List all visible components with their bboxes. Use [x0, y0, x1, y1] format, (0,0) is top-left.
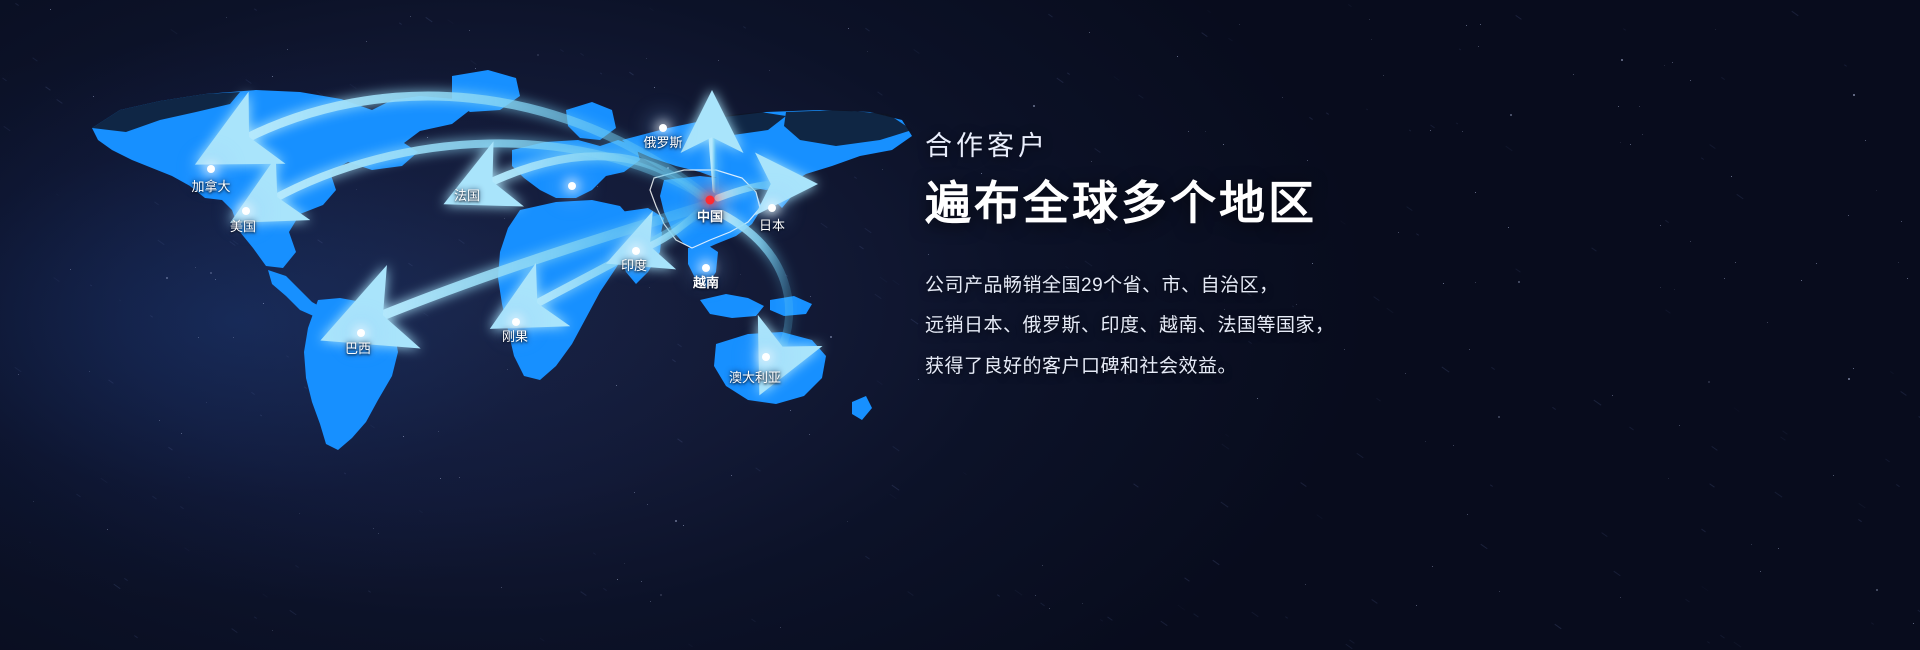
speckle	[1552, 406, 1556, 409]
speckle	[1202, 32, 1208, 37]
speckle	[1720, 635, 1724, 638]
description-block: 公司产品畅销全国29个省、市、自治区， 远销日本、俄罗斯、印度、越南、法国等国家…	[925, 272, 1485, 381]
star-dot	[1778, 548, 1779, 549]
star-dot	[1620, 142, 1621, 143]
star-dot	[1082, 603, 1083, 604]
speckle	[1792, 11, 1799, 16]
speckle	[1371, 599, 1377, 604]
speckle	[1067, 72, 1070, 74]
map-marker-dot[interactable]	[632, 247, 640, 255]
map-marker-label: 法国	[454, 189, 480, 202]
star-dot	[1466, 25, 1467, 26]
map-marker-label: 印度	[621, 259, 647, 272]
speckle	[1048, 14, 1052, 17]
speckle	[1591, 248, 1596, 252]
location-marker-icon	[512, 318, 520, 326]
speckle	[1107, 616, 1112, 620]
star-dot	[1708, 381, 1710, 383]
map-marker-dot[interactable]	[207, 165, 215, 173]
speckle	[1623, 28, 1626, 31]
speckle	[1350, 640, 1355, 644]
map-marker-label: 刚果	[502, 330, 528, 343]
star-dot	[1621, 59, 1623, 61]
speckle	[1515, 268, 1521, 272]
star-dot	[1660, 225, 1661, 226]
speckle	[1890, 371, 1894, 374]
speckle	[1459, 49, 1461, 51]
speckle	[1356, 453, 1363, 458]
speckle	[1228, 38, 1232, 42]
speckle	[1309, 117, 1313, 120]
global-clients-banner: 加拿大美国巴西刚果法国俄罗斯印度越南日本澳大利亚中国 合作客户 遍布全球多个地区…	[0, 0, 1920, 650]
speckle	[1300, 482, 1306, 487]
map-marker-dot[interactable]	[768, 204, 776, 212]
description-line-2: 远销日本、俄罗斯、印度、越南、法国等国家，	[925, 312, 1485, 340]
location-marker-icon	[702, 264, 710, 272]
star-dot	[1369, 19, 1370, 20]
speckle	[1348, 4, 1352, 7]
location-marker-icon	[357, 329, 365, 337]
star-dot	[1371, 39, 1372, 40]
speckle	[1734, 642, 1742, 648]
route-to-russia	[712, 132, 716, 190]
star-dot	[1760, 571, 1761, 572]
star-dot	[1679, 425, 1680, 426]
speckle	[1702, 528, 1707, 532]
star-dot	[1801, 280, 1802, 281]
speckle	[1707, 641, 1710, 644]
map-marker-dot[interactable]	[512, 318, 520, 326]
speckle	[1775, 492, 1783, 498]
map-marker-label: 日本	[759, 219, 785, 232]
star-dot	[1305, 584, 1306, 585]
speckle	[1057, 78, 1064, 84]
star-dot	[1508, 227, 1509, 228]
location-marker-icon	[207, 165, 215, 173]
speckle	[1040, 602, 1045, 606]
speckle	[1666, 309, 1671, 313]
speckle	[1366, 108, 1368, 110]
speckle	[1221, 443, 1229, 449]
star-dot	[1690, 80, 1691, 81]
star-dot	[1642, 134, 1643, 135]
speckle	[1901, 391, 1907, 396]
speckle	[1114, 76, 1121, 81]
speckle	[1736, 194, 1743, 199]
star-dot	[1731, 176, 1732, 177]
star-dot	[1751, 544, 1752, 545]
location-marker-icon	[632, 247, 640, 255]
map-marker-label: 越南	[693, 276, 719, 289]
star-dot	[1668, 478, 1669, 479]
star-dot	[1690, 241, 1691, 242]
star-dot	[1498, 416, 1500, 418]
speckle	[1220, 501, 1228, 507]
speckle	[1178, 605, 1186, 611]
speckle	[1285, 616, 1288, 619]
speckle	[1665, 220, 1669, 223]
star-dot	[1853, 368, 1854, 369]
star-dot	[1499, 591, 1500, 592]
speckle	[1885, 459, 1890, 463]
world-map-svg	[0, 0, 1000, 650]
speckle	[1709, 144, 1715, 149]
speckle	[1780, 437, 1785, 441]
map-marker-label: 巴西	[345, 342, 371, 355]
star-dot	[1907, 278, 1908, 279]
speckle	[1345, 643, 1352, 649]
origin-marker-icon	[706, 196, 715, 205]
star-dot	[1518, 281, 1520, 283]
speckle	[1326, 113, 1329, 115]
star-dot	[1618, 106, 1619, 107]
star-dot	[1033, 105, 1035, 107]
map-marker-label: 美国	[230, 220, 256, 233]
description-line-3: 获得了良好的客户口碑和社会效益。	[925, 353, 1485, 381]
star-dot	[1573, 74, 1574, 75]
star-dot	[1478, 46, 1479, 47]
page-title: 遍布全球多个地区	[925, 176, 1485, 231]
speckle	[1184, 577, 1189, 581]
map-marker-dot[interactable]	[762, 353, 770, 361]
star-dot	[1383, 75, 1384, 76]
speckle	[1711, 446, 1718, 451]
speckle	[1629, 426, 1634, 430]
speckle	[1709, 484, 1715, 488]
world-map: 加拿大美国巴西刚果法国俄罗斯印度越南日本澳大利亚中国	[0, 0, 1000, 650]
speckle	[1858, 519, 1862, 522]
star-dot	[1042, 565, 1043, 566]
star-dot	[1177, 56, 1178, 57]
map-marker-dot[interactable]	[242, 207, 250, 215]
speckle	[1506, 145, 1513, 150]
speckle	[1490, 485, 1493, 487]
star-dot	[1480, 24, 1481, 25]
map-marker-dot[interactable]	[702, 264, 710, 272]
description-line-1: 公司产品畅销全国29个省、市、自治区，	[925, 272, 1485, 300]
star-dot	[1848, 215, 1849, 216]
star-dot	[1735, 262, 1736, 263]
star-dot	[1767, 322, 1768, 323]
map-marker-label: 中国	[697, 210, 723, 223]
star-dot	[1467, 514, 1468, 515]
speckle	[1782, 431, 1787, 435]
speckle	[1481, 543, 1488, 548]
location-marker-icon	[768, 204, 776, 212]
speckle	[1613, 571, 1620, 576]
speckle	[1193, 613, 1199, 617]
speckle	[1871, 622, 1874, 624]
speckle	[1252, 611, 1259, 617]
star-dot	[1715, 29, 1716, 30]
star-dot	[1833, 475, 1834, 476]
speckle	[1133, 483, 1138, 487]
star-dot	[1901, 221, 1902, 222]
speckle	[1685, 598, 1689, 602]
speckle	[1601, 532, 1607, 537]
star-dot	[1876, 190, 1877, 191]
speckle	[1702, 586, 1709, 591]
location-marker-icon	[568, 182, 576, 190]
star-dot	[1612, 395, 1613, 396]
star-dot	[1416, 605, 1417, 606]
speckle	[1376, 398, 1380, 401]
speckle	[1212, 560, 1219, 565]
location-marker-icon	[762, 353, 770, 361]
map-marker-dot[interactable]	[706, 196, 715, 205]
speckle	[1015, 590, 1023, 596]
banner-copy: 合作客户 遍布全球多个地区 公司产品畅销全国29个省、市、自治区， 远销日本、俄…	[925, 130, 1485, 380]
speckle	[1844, 64, 1847, 66]
star-dot	[1664, 65, 1665, 66]
star-dot	[1816, 263, 1817, 264]
map-marker-label: 澳大利亚	[729, 371, 781, 384]
speckle	[1594, 400, 1602, 406]
eyebrow-text: 合作客户	[925, 130, 1485, 162]
speckle	[1734, 407, 1740, 412]
map-marker-dot[interactable]	[357, 329, 365, 337]
speckle	[1896, 484, 1900, 487]
star-dot	[1510, 114, 1512, 116]
star-dot	[1672, 62, 1673, 63]
star-dot	[1630, 144, 1631, 145]
star-dot	[1898, 262, 1899, 263]
star-dot	[1239, 24, 1240, 25]
speckle	[1100, 619, 1103, 622]
star-dot	[1876, 589, 1878, 591]
star-dot	[1660, 287, 1661, 288]
star-dot	[1453, 445, 1454, 446]
star-dot	[1257, 398, 1258, 399]
speckle	[1207, 10, 1211, 13]
map-marker-label: 加拿大	[191, 180, 230, 193]
map-marker-dot[interactable]	[659, 124, 667, 132]
star-dot	[1724, 278, 1725, 279]
speckle	[1225, 434, 1229, 437]
star-dot	[1639, 106, 1640, 107]
speckle	[1491, 367, 1495, 370]
speckle	[1858, 503, 1865, 508]
star-dot	[1035, 595, 1036, 596]
star-dot	[1853, 94, 1855, 96]
star-dot	[1865, 140, 1866, 141]
location-marker-icon	[242, 207, 250, 215]
map-marker-label: 俄罗斯	[643, 136, 682, 149]
star-dot	[1049, 608, 1050, 609]
location-marker-icon	[659, 124, 667, 132]
speckle	[1516, 15, 1523, 20]
speckle	[1430, 124, 1435, 128]
speckle	[1138, 95, 1143, 99]
star-dot	[1620, 597, 1621, 598]
speckle	[1456, 122, 1458, 124]
star-dot	[1089, 32, 1090, 33]
speckle	[1317, 514, 1323, 519]
speckle	[1701, 157, 1704, 159]
star-dot	[1848, 378, 1850, 380]
speckle	[1555, 624, 1562, 629]
star-dot	[1674, 289, 1675, 290]
star-dot	[1913, 623, 1914, 624]
star-dot	[1282, 97, 1283, 98]
star-dot	[1425, 441, 1426, 442]
map-marker-dot[interactable]	[568, 182, 576, 190]
star-dot	[1432, 566, 1433, 567]
speckle	[1161, 621, 1168, 627]
speckle	[1721, 77, 1725, 80]
